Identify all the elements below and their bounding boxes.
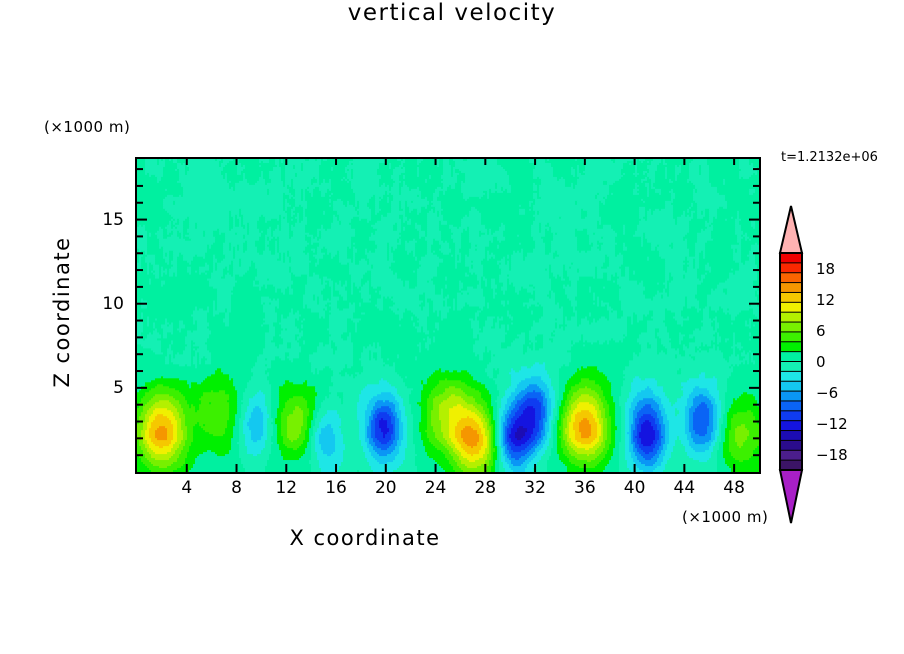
colorbar	[770, 200, 818, 530]
colorbar-tick-label: −12	[816, 415, 848, 433]
x-tick-label: 8	[231, 478, 242, 498]
timestamp-annotation: t=1.2132e+06	[781, 150, 878, 165]
colorbar-tick-label: 18	[816, 260, 835, 278]
x-tick-label: 12	[275, 478, 297, 498]
x-axis-unit-label: (×1000 m)	[682, 508, 768, 526]
y-tick-label: 5	[84, 378, 124, 398]
y-tick-label: 15	[84, 210, 124, 230]
contour-plot-area	[135, 157, 761, 474]
x-tick-label: 4	[181, 478, 192, 498]
x-tick-label: 16	[325, 478, 347, 498]
x-tick-label: 24	[425, 478, 447, 498]
x-axis-title: X coordinate	[0, 526, 730, 550]
x-tick-label: 32	[524, 478, 546, 498]
x-tick-label: 40	[624, 478, 646, 498]
x-tick-label: 28	[474, 478, 496, 498]
x-tick-label: 36	[574, 478, 596, 498]
y-tick-label: 10	[84, 294, 124, 314]
colorbar-tick-label: −6	[816, 384, 838, 402]
colorbar-under-cap	[780, 470, 802, 523]
vertical-velocity-field	[137, 159, 759, 472]
chart-title: vertical velocity	[0, 0, 904, 26]
x-tick-label: 20	[375, 478, 397, 498]
colorbar-over-cap	[780, 206, 802, 253]
colorbar-tick-label: −18	[816, 446, 848, 464]
x-tick-label: 48	[723, 478, 745, 498]
x-tick-label: 44	[674, 478, 696, 498]
colorbar-tick-label: 12	[816, 291, 835, 309]
y-axis-title: Z coordinate	[50, 212, 74, 412]
y-axis-unit-label: (×1000 m)	[44, 118, 130, 136]
